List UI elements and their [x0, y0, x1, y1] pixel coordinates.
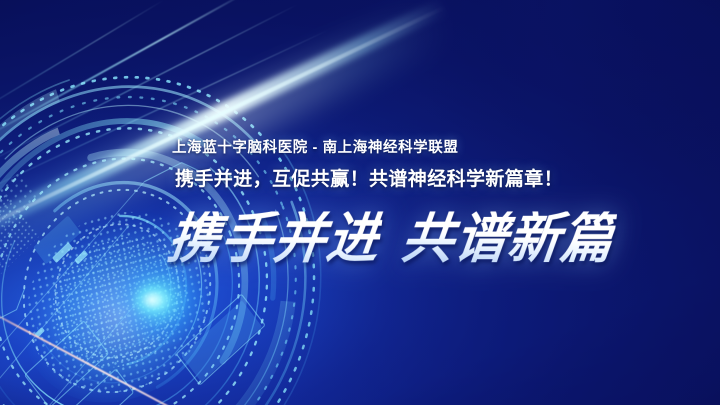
- organization-line: 上海蓝十字脑科医院 - 南上海神经科学联盟: [172, 136, 458, 157]
- headline: 携手并进 共谱新篇: [168, 205, 614, 273]
- headline-right: 共谱新篇: [399, 211, 618, 266]
- banner-image: 上海蓝十字脑科医院 - 南上海神经科学联盟 携手并进，互促共赢！共谱神经科学新篇…: [0, 0, 720, 405]
- text-block: 上海蓝十字脑科医院 - 南上海神经科学联盟 携手并进，互促共赢！共谱神经科学新篇…: [0, 0, 720, 405]
- headline-left: 携手并进: [165, 211, 384, 266]
- slogan-line: 携手并进，互促共赢！共谱神经科学新篇章！: [175, 164, 563, 191]
